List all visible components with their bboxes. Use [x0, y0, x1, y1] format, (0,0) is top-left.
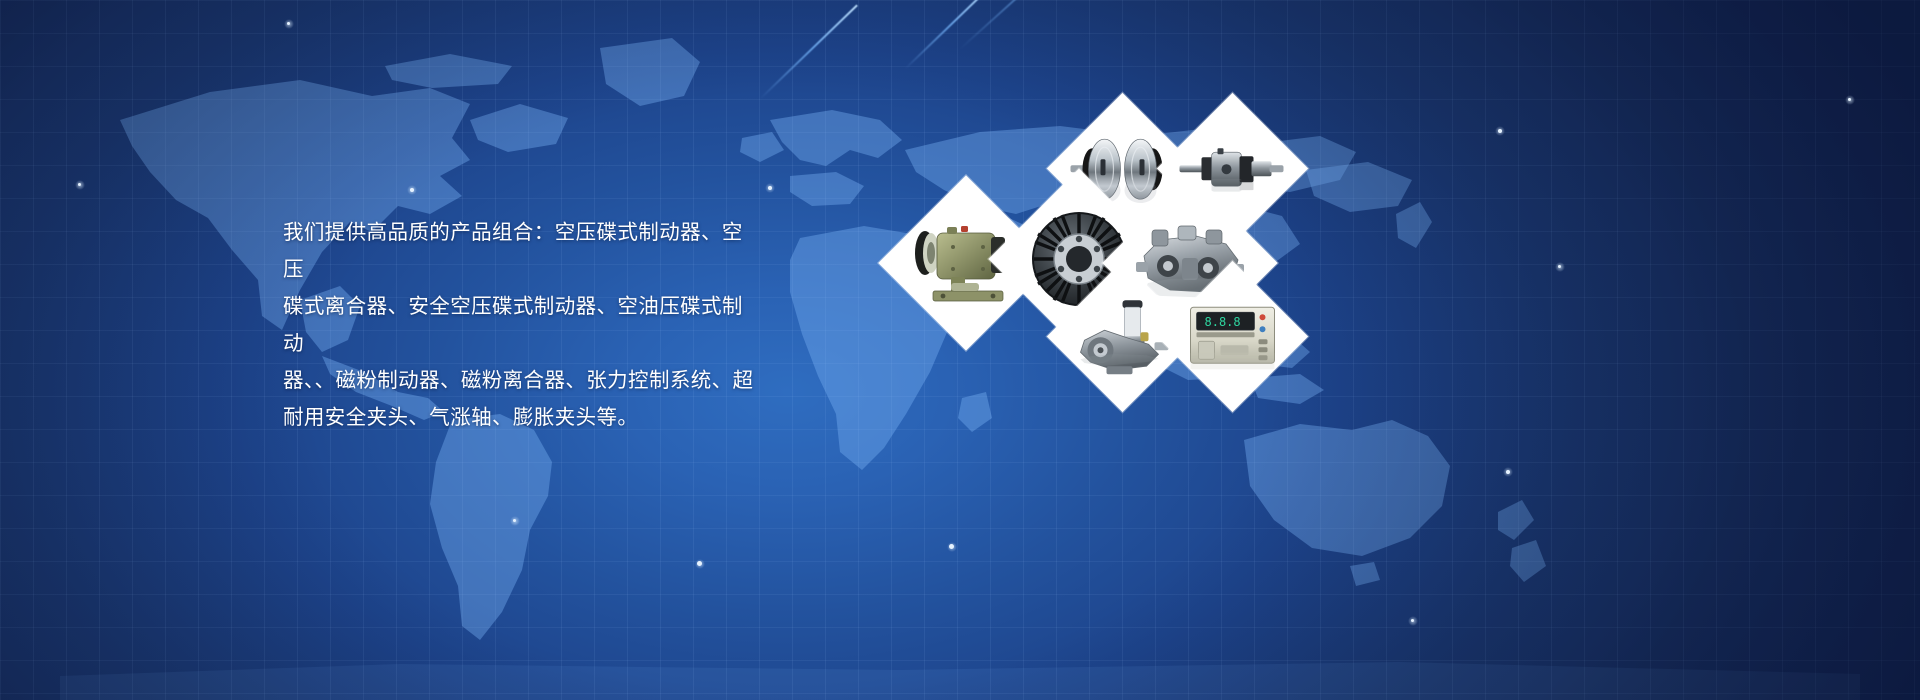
star-dot [1506, 470, 1510, 474]
svg-text:8.8.8: 8.8.8 [1205, 315, 1241, 329]
star-dot [513, 519, 516, 522]
product-diamond-grid: 8.8.8 [884, 133, 1254, 435]
light-streak-1 [759, 5, 858, 100]
star-dot [1498, 129, 1502, 133]
light-streak-2 [904, 0, 990, 70]
copy-line-3: 器、、磁粉制动器、磁粉离合器、张力控制系统、超 [283, 362, 761, 399]
star-dot [1558, 265, 1561, 268]
star-dot [768, 186, 772, 190]
product-banner: 我们提供高品质的产品组合：空压碟式制动器、空压 碟式离合器、安全空压碟式制动器、… [0, 0, 1920, 700]
star-dot [1848, 98, 1851, 101]
star-dot [949, 544, 954, 549]
light-streak-3 [959, 0, 1135, 50]
banner-copy: 我们提供高品质的产品组合：空压碟式制动器、空压 碟式离合器、安全空压碟式制动器、… [283, 214, 761, 436]
star-dot [410, 188, 414, 192]
star-dot [1411, 619, 1414, 622]
star-dot [78, 183, 81, 186]
star-dot [287, 22, 290, 25]
copy-line-4: 耐用安全夹头、气涨轴、膨胀夹头等。 [283, 399, 761, 436]
copy-line-2: 碟式离合器、安全空压碟式制动器、空油压碟式制动 [283, 288, 761, 362]
copy-line-1: 我们提供高品质的产品组合：空压碟式制动器、空压 [283, 214, 761, 288]
star-dot [697, 561, 702, 566]
